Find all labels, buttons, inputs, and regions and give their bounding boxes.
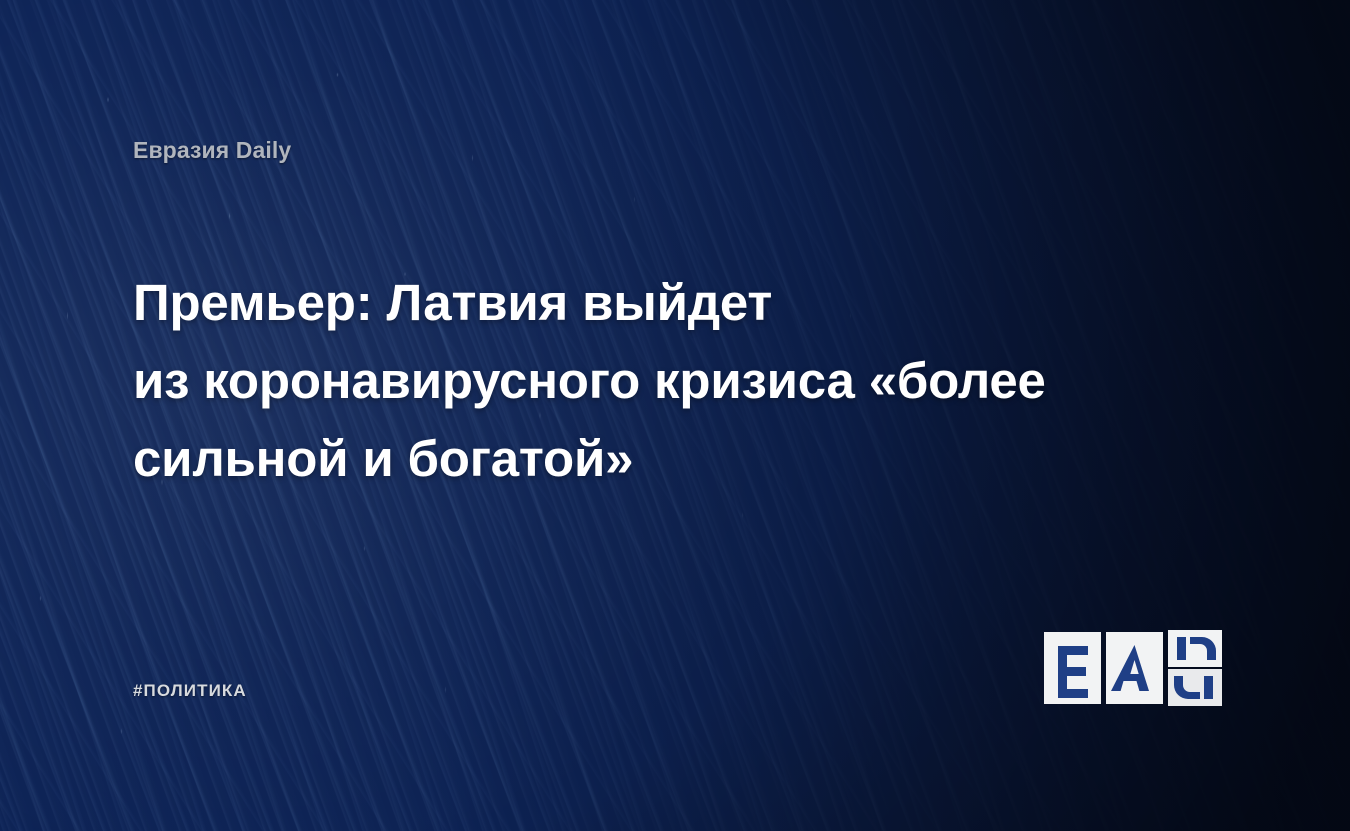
logo-tile-e (1044, 632, 1101, 704)
logo-tile-d (1168, 630, 1222, 706)
category-tag[interactable]: #ПОЛИТИКА (133, 681, 247, 701)
page-title: Премьер: Латвия выйдет из коронавирусног… (133, 264, 1143, 498)
eadaily-logo[interactable]: EADaily (1044, 630, 1222, 708)
card-content: Евразия Daily Премьер: Латвия выйдет из … (0, 0, 1350, 831)
headline-line-3: сильной и богатой» (133, 420, 1143, 498)
logo-tile-a (1106, 632, 1163, 704)
headline-line-1: Премьер: Латвия выйдет (133, 264, 1143, 342)
news-share-card: Евразия Daily Премьер: Латвия выйдет из … (0, 0, 1350, 831)
headline-line-2: из коронавирусного кризиса «более (133, 342, 1143, 420)
brand-wordmark: Евразия Daily (133, 137, 291, 164)
